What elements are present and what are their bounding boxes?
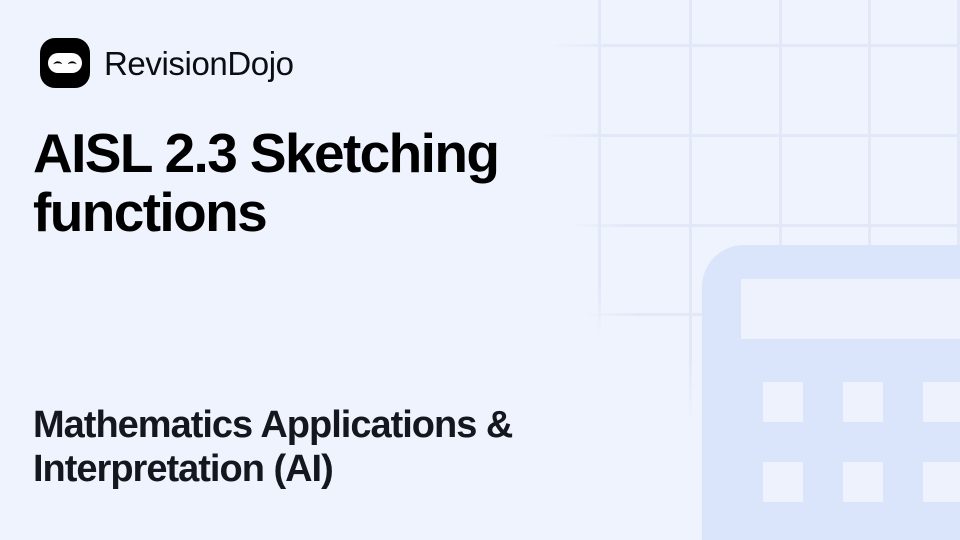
calculator-key — [763, 382, 803, 422]
ninja-mask-icon — [40, 38, 90, 88]
brand-logo: RevisionDojo — [40, 38, 294, 88]
calculator-display — [741, 279, 960, 339]
calculator-key — [843, 462, 883, 502]
grid-line-vertical — [779, 0, 782, 420]
page-subtitle: Mathematics Applications & Interpretatio… — [33, 404, 693, 491]
grid-line-vertical — [868, 0, 871, 420]
brand-name: RevisionDojo — [104, 47, 294, 80]
slide-canvas: RevisionDojo AISL 2.3 Sketching function… — [0, 0, 960, 540]
grid-line-horizontal — [586, 313, 960, 316]
calculator-icon — [702, 245, 960, 540]
grid-line-horizontal — [773, 403, 960, 406]
calculator-key — [763, 462, 803, 502]
grid-line-vertical — [689, 0, 692, 420]
calculator-key — [843, 382, 883, 422]
calculator-key — [923, 382, 960, 422]
grid-line-horizontal — [553, 44, 960, 47]
calculator-key — [923, 462, 960, 502]
page-title: AISL 2.3 Sketching functions — [33, 124, 633, 242]
